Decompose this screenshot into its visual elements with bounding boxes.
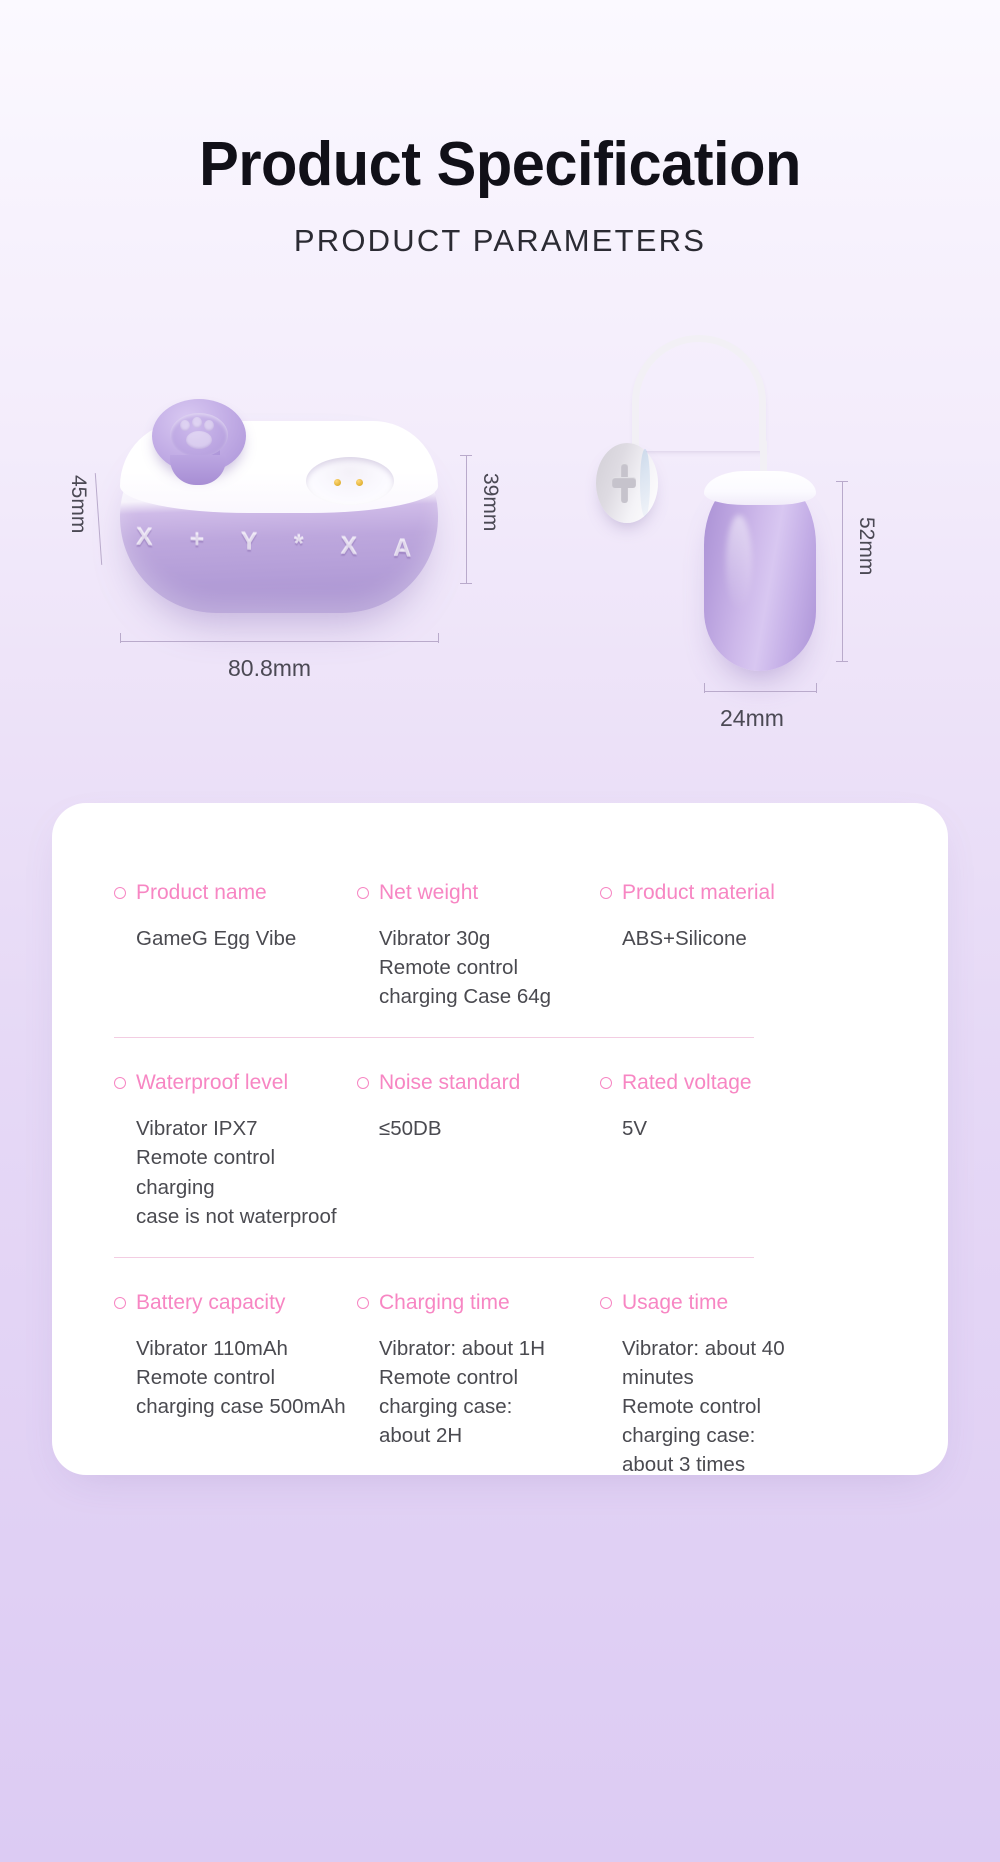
spec-value-text: ≤50DB bbox=[379, 1114, 600, 1143]
spec-label-cell: Battery capacity bbox=[114, 1291, 357, 1315]
paw-toe-shape bbox=[180, 420, 190, 431]
charging-case-emboss-pattern: X + Y * X A * Y B X bbox=[136, 523, 422, 601]
spec-value-text: Vibrator IPX7 Remote control charging ca… bbox=[136, 1114, 357, 1230]
spec-label-text: Charging time bbox=[379, 1291, 510, 1315]
spec-label-cell: Noise standard bbox=[357, 1071, 600, 1095]
circle-bullet-icon bbox=[114, 1077, 126, 1089]
spec-label-text: Battery capacity bbox=[136, 1291, 285, 1315]
spec-label-text: Net weight bbox=[379, 881, 478, 905]
spec-label-row: Product name Net weight Product material bbox=[114, 881, 886, 905]
spec-value-cell: ≤50DB bbox=[357, 1114, 600, 1230]
case-height-tick-top bbox=[460, 455, 472, 456]
paw-toe-shape bbox=[204, 420, 214, 431]
spec-label-cell: Product material bbox=[600, 881, 843, 905]
spec-value-cell: Vibrator: about 1H Remote control chargi… bbox=[357, 1334, 600, 1480]
egg-height-dimension-line bbox=[842, 481, 843, 661]
circle-bullet-icon bbox=[114, 887, 126, 899]
spec-value-text: ABS+Silicone bbox=[622, 924, 843, 953]
case-width-label: 80.8mm bbox=[228, 655, 311, 682]
egg-vibrator-figure: 24mm 52mm bbox=[560, 321, 890, 701]
page-title: Product Specification bbox=[20, 132, 980, 197]
spec-value-cell: Vibrator 30g Remote control charging Cas… bbox=[357, 924, 600, 1011]
paw-pad-shape bbox=[186, 431, 212, 449]
circle-bullet-icon bbox=[357, 1077, 369, 1089]
spec-value-text: Vibrator: about 40 minutes Remote contro… bbox=[622, 1334, 843, 1480]
spec-value-cell: Vibrator 110mAh Remote control charging … bbox=[114, 1334, 357, 1480]
spec-value-cell: Vibrator: about 40 minutes Remote contro… bbox=[600, 1334, 843, 1480]
spec-label-text: Product name bbox=[136, 881, 267, 905]
egg-height-tick-bottom bbox=[836, 661, 848, 662]
specification-card: Product name Net weight Product material… bbox=[52, 803, 948, 1475]
egg-height-label: 52mm bbox=[854, 517, 878, 575]
spec-label-text: Usage time bbox=[622, 1291, 728, 1315]
egg-width-dimension-line bbox=[704, 691, 816, 692]
spec-label-cell: Usage time bbox=[600, 1291, 843, 1315]
plus-horizontal-bar bbox=[612, 477, 636, 488]
spec-label: Net weight bbox=[357, 881, 600, 905]
circle-bullet-icon bbox=[600, 887, 612, 899]
puck-seam bbox=[640, 449, 650, 517]
spec-label-cell: Rated voltage bbox=[600, 1071, 843, 1095]
charging-pin-icon bbox=[334, 479, 341, 486]
egg-width-tick-left bbox=[704, 683, 705, 693]
spec-label: Battery capacity bbox=[114, 1291, 357, 1315]
spec-label: Product name bbox=[114, 881, 357, 905]
spec-value-text: Vibrator 30g Remote control charging Cas… bbox=[379, 924, 600, 1011]
case-height-label: 39mm bbox=[478, 473, 502, 531]
circle-bullet-icon bbox=[600, 1077, 612, 1089]
case-depth-dimension-line bbox=[95, 473, 102, 565]
spec-label: Product material bbox=[600, 881, 843, 905]
circle-bullet-icon bbox=[114, 1297, 126, 1309]
charging-port bbox=[306, 457, 394, 505]
spec-value-cell: 5V bbox=[600, 1114, 843, 1230]
spec-label-cell: Waterproof level bbox=[114, 1071, 357, 1095]
spec-value-cell: Vibrator IPX7 Remote control charging ca… bbox=[114, 1114, 357, 1230]
spec-label-cell: Charging time bbox=[357, 1291, 600, 1315]
charging-pin-icon bbox=[356, 479, 363, 486]
case-width-tick-right bbox=[438, 633, 439, 643]
case-height-tick-bottom bbox=[460, 583, 472, 584]
spec-label-row: Waterproof level Noise standard Rated vo… bbox=[114, 1071, 886, 1095]
spec-value-text: GameG Egg Vibe bbox=[136, 924, 357, 953]
spec-value-row: Vibrator 110mAh Remote control charging … bbox=[114, 1334, 886, 1480]
cord-icon bbox=[632, 335, 766, 451]
spec-block: Battery capacity Charging time Usage tim… bbox=[114, 1257, 886, 1480]
spec-value-text: Vibrator 110mAh Remote control charging … bbox=[136, 1334, 357, 1421]
spec-label-text: Product material bbox=[622, 881, 775, 905]
page-subtitle: PRODUCT PARAMETERS bbox=[0, 223, 1000, 259]
case-width-dimension-line bbox=[120, 641, 438, 642]
circle-bullet-icon bbox=[600, 1297, 612, 1309]
case-width-tick-left bbox=[120, 633, 121, 643]
case-depth-label: 45mm bbox=[66, 475, 90, 533]
circle-bullet-icon bbox=[357, 887, 369, 899]
spec-label: Rated voltage bbox=[600, 1071, 843, 1095]
plus-button-icon bbox=[612, 463, 636, 503]
paw-icon bbox=[170, 413, 228, 457]
spec-value-row: GameG Egg Vibe Vibrator 30g Remote contr… bbox=[114, 924, 886, 1011]
spec-label-text: Waterproof level bbox=[136, 1071, 288, 1095]
egg-highlight bbox=[726, 515, 752, 611]
charging-case-figure: X + Y * X A * Y B X 80.8mm 39mm 45mm bbox=[58, 399, 488, 699]
egg-cap bbox=[704, 471, 816, 505]
spec-label-cell: Net weight bbox=[357, 881, 600, 905]
egg-width-tick-right bbox=[816, 683, 817, 693]
spec-label: Usage time bbox=[600, 1291, 843, 1315]
spec-label-row: Battery capacity Charging time Usage tim… bbox=[114, 1291, 886, 1315]
spec-label-text: Rated voltage bbox=[622, 1071, 752, 1095]
spec-label: Waterproof level bbox=[114, 1071, 357, 1095]
case-height-dimension-line bbox=[466, 455, 467, 583]
page-header: Product Specification PRODUCT PARAMETERS bbox=[0, 0, 1000, 259]
spec-value-text: 5V bbox=[622, 1114, 843, 1143]
spec-value-cell: ABS+Silicone bbox=[600, 924, 843, 1011]
spec-value-cell: GameG Egg Vibe bbox=[114, 924, 357, 1011]
spec-block: Waterproof level Noise standard Rated vo… bbox=[114, 1037, 886, 1230]
remote-control-puck bbox=[596, 443, 658, 523]
spec-label-cell: Product name bbox=[114, 881, 357, 905]
spec-label: Noise standard bbox=[357, 1071, 600, 1095]
spec-value-row: Vibrator IPX7 Remote control charging ca… bbox=[114, 1114, 886, 1230]
spec-label-text: Noise standard bbox=[379, 1071, 520, 1095]
circle-bullet-icon bbox=[357, 1297, 369, 1309]
paw-toe-shape bbox=[192, 417, 202, 428]
product-showcase: X + Y * X A * Y B X 80.8mm 39mm 45mm bbox=[0, 311, 1000, 781]
egg-body bbox=[704, 471, 816, 671]
egg-width-label: 24mm bbox=[720, 705, 784, 732]
spec-value-text: Vibrator: about 1H Remote control chargi… bbox=[379, 1334, 600, 1450]
spec-label: Charging time bbox=[357, 1291, 600, 1315]
egg-height-tick-top bbox=[836, 481, 848, 482]
spec-block: Product name Net weight Product material… bbox=[114, 881, 886, 1011]
